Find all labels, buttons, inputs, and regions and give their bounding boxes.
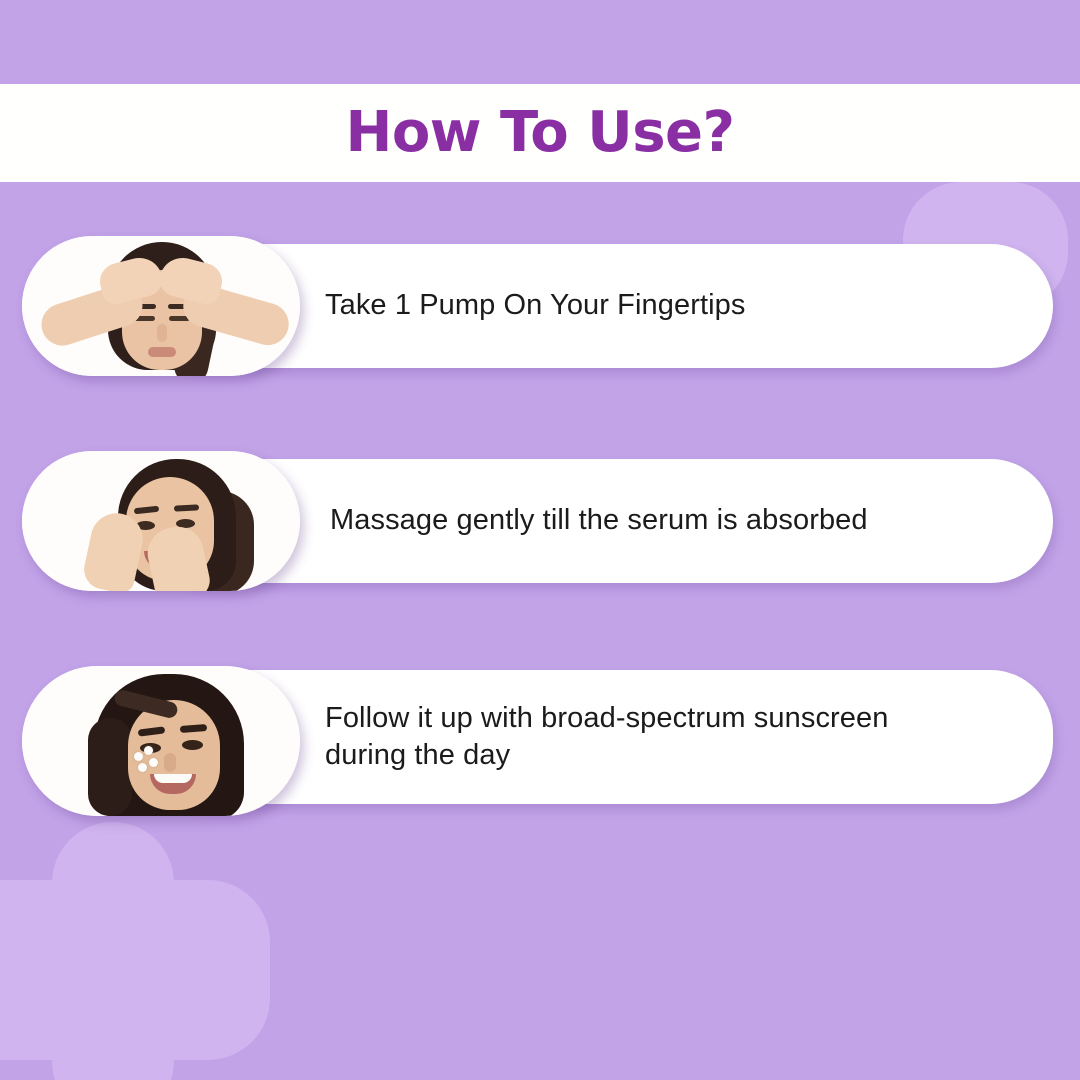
cream-dot (149, 758, 158, 767)
nose-shape (164, 753, 176, 772)
hair-side-shape (88, 718, 132, 816)
step-text-line-1: Follow it up with broad-spectrum sunscre… (325, 702, 889, 734)
step-text: Take 1 Pump On Your Fingertips (325, 287, 746, 324)
step-text-line-2: during the day (325, 739, 510, 771)
cream-dot (144, 746, 153, 755)
header-band: How To Use? (0, 84, 1080, 182)
woman-with-cream-dots-on-cheek-photo (22, 666, 300, 816)
woman-applying-serum-to-forehead-photo (22, 236, 300, 376)
cream-dot (138, 763, 147, 772)
how-to-use-poster: How To Use? Take 1 Pump On Your Fingerti… (0, 0, 1080, 1080)
cream-dot (134, 752, 143, 761)
eye-right-shape (182, 740, 203, 750)
step-text: Follow it up with broad-spectrum sunscre… (325, 700, 889, 774)
step-text: Massage gently till the serum is absorbe… (330, 502, 868, 539)
teeth-shape (154, 774, 192, 783)
lips-shape (148, 347, 176, 357)
nose-shape (157, 324, 167, 342)
step-thumbnail (22, 666, 300, 816)
page-title: How To Use? (345, 105, 734, 161)
woman-massaging-cheeks-photo (22, 451, 300, 591)
step-thumbnail (22, 451, 300, 591)
step-thumbnail (22, 236, 300, 376)
